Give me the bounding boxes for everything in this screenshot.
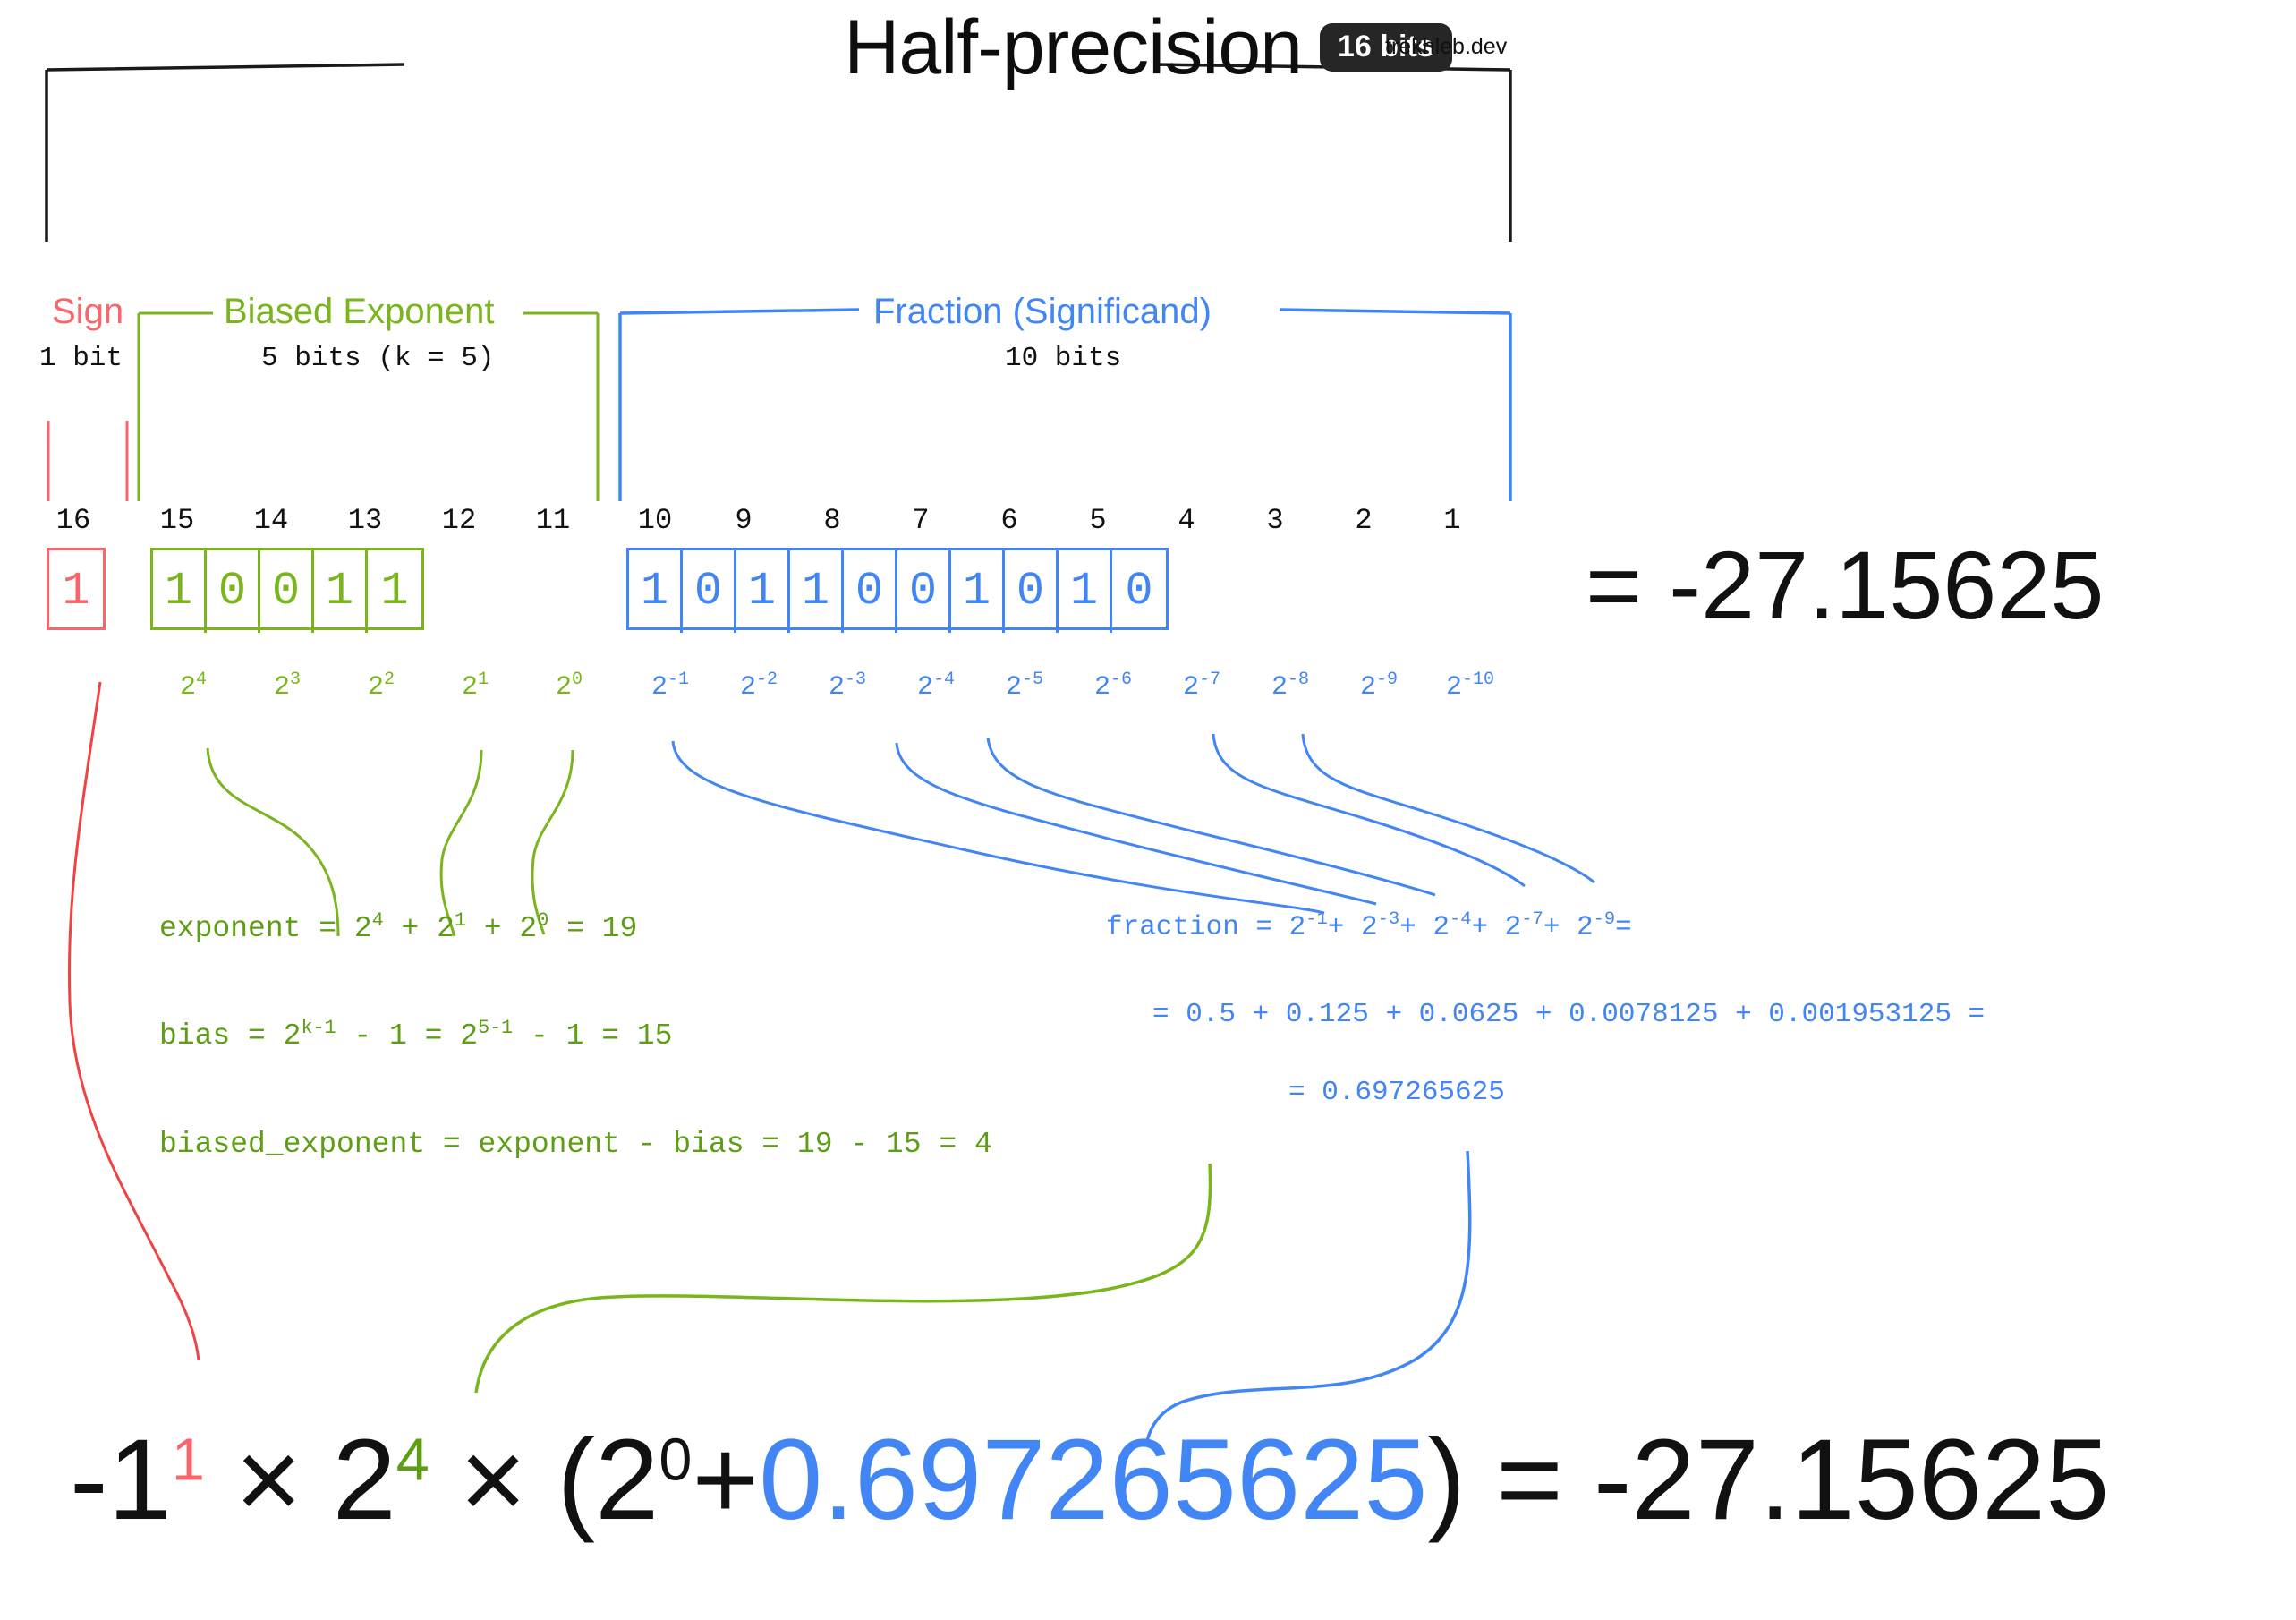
formula-base-two: 2 — [333, 1416, 396, 1544]
fraction-equation-line3: = 0.697265625 — [1288, 1079, 1505, 1106]
sign-group-label: Sign — [52, 294, 123, 329]
power-base: 2 — [368, 672, 384, 703]
bit-index: 6 — [982, 504, 1036, 537]
fraction-power-label: 2-1 — [639, 669, 702, 703]
power-exponent: -4 — [933, 669, 955, 690]
bit-index: 13 — [338, 504, 392, 537]
exponent-equation-sup2: 1 — [455, 909, 466, 932]
fraction-equation-sup5: -9 — [1594, 909, 1616, 930]
bit-index: 2 — [1337, 504, 1390, 537]
formula-plus: + — [692, 1416, 759, 1544]
exponent-connector-curves — [208, 748, 573, 936]
fraction-bit-cell[interactable]: 1 — [736, 550, 790, 633]
power-exponent: -10 — [1462, 669, 1494, 690]
bit-index: 3 — [1248, 504, 1302, 537]
exponent-bit-cell[interactable]: 1 — [153, 550, 207, 633]
power-base: 2 — [462, 672, 478, 703]
sign-bit-cell[interactable]: 1 — [49, 550, 103, 633]
final-formula: -11×24×(20+0.697265625)=-27.15625 — [70, 1423, 2109, 1538]
power-exponent: 3 — [290, 669, 301, 690]
bit-index: 12 — [432, 504, 486, 537]
fraction-bit-cell[interactable]: 0 — [1005, 550, 1059, 633]
fraction-equation-line1: fraction = 2-1+ 2-3+ 2-4+ 2-7+ 2-9= — [1106, 911, 1632, 941]
fraction-bit-cell[interactable]: 0 — [844, 550, 897, 633]
power-base: 2 — [740, 672, 756, 703]
power-exponent: -6 — [1110, 669, 1132, 690]
power-base: 2 — [829, 672, 845, 703]
power-exponent: -7 — [1199, 669, 1220, 690]
power-base: 2 — [274, 672, 290, 703]
top-span-bracket — [47, 64, 1510, 242]
power-exponent: 1 — [478, 669, 489, 690]
fraction-group-label: Fraction (Significand) — [873, 294, 1212, 329]
bit-index: 11 — [526, 504, 580, 537]
bit-index: 7 — [894, 504, 948, 537]
formula-biased-exponent: 4 — [396, 1427, 429, 1493]
watermark: trekhleb.dev — [1385, 34, 1507, 60]
exponent-power-label: 22 — [350, 669, 412, 703]
fraction-equation-sup3: -4 — [1450, 909, 1472, 930]
connector-lines-layer — [0, 0, 2296, 1620]
exponent-bracket — [139, 313, 598, 501]
sign-bit-group: 1 — [47, 548, 106, 630]
title-text: Half-precision — [844, 9, 1302, 86]
fraction-equation-mid1: + 2 — [1328, 911, 1378, 942]
exponent-bit-cell[interactable]: 0 — [207, 550, 260, 633]
power-base: 2 — [1006, 672, 1022, 703]
power-exponent: -9 — [1376, 669, 1398, 690]
bit-index: 9 — [717, 504, 770, 537]
power-base: 2 — [1360, 672, 1376, 703]
page-title: Half-precision 16 bits — [0, 9, 2296, 86]
formula-equals: = — [1496, 1416, 1563, 1544]
exponent-equation: exponent = 24 + 21 + 20 = 19 — [159, 911, 637, 943]
exponent-group-label: Biased Exponent — [224, 294, 494, 329]
fraction-bit-cell[interactable]: 0 — [1112, 550, 1166, 633]
power-exponent: -2 — [756, 669, 778, 690]
biased-exponent-connector-curve — [476, 1164, 1211, 1393]
formula-sign-exponent: 1 — [172, 1427, 205, 1493]
bit-index: 10 — [628, 504, 682, 537]
fraction-equation-prefix: fraction = 2 — [1106, 911, 1305, 942]
fraction-bit-cell[interactable]: 1 — [951, 550, 1005, 633]
fraction-equation-suffix: = — [1615, 911, 1632, 942]
power-base: 2 — [180, 672, 196, 703]
power-base: 2 — [1271, 672, 1288, 703]
exponent-bit-cell[interactable]: 1 — [314, 550, 368, 633]
formula-fraction-value: 0.697265625 — [759, 1416, 1427, 1544]
fraction-power-label: 2-7 — [1170, 669, 1233, 703]
exponent-power-label: 20 — [538, 669, 600, 703]
power-exponent: -5 — [1022, 669, 1043, 690]
formula-open-paren: (2 — [557, 1416, 659, 1544]
fraction-bit-cell[interactable]: 0 — [897, 550, 951, 633]
fraction-power-label: 2-6 — [1082, 669, 1144, 703]
exponent-bit-group: 1 0 0 1 1 — [150, 548, 424, 630]
exponent-bit-cell[interactable]: 1 — [368, 550, 421, 633]
fraction-power-label: 2-10 — [1439, 669, 1501, 703]
fraction-equation-sup4: -7 — [1521, 909, 1543, 930]
power-base: 2 — [1446, 672, 1462, 703]
fraction-power-label: 2-8 — [1259, 669, 1322, 703]
exponent-equation-suffix: = 19 — [548, 912, 637, 945]
fraction-equation-sup1: -1 — [1305, 909, 1328, 930]
power-exponent: 0 — [572, 669, 583, 690]
power-base: 2 — [651, 672, 668, 703]
exponent-equation-sup1: 4 — [372, 909, 384, 932]
exponent-equation-mid2: + 2 — [466, 912, 537, 945]
power-base: 2 — [1094, 672, 1110, 703]
fraction-equation-sup2: -3 — [1378, 909, 1400, 930]
exponent-equation-mid1: + 2 — [384, 912, 455, 945]
bias-equation: bias = 2k-1 - 1 = 25-1 - 1 = 15 — [159, 1019, 672, 1051]
formula-base-minus-one: -1 — [70, 1416, 172, 1544]
fraction-group-sublabel: 10 bits — [1005, 345, 1121, 372]
fraction-bit-cell[interactable]: 1 — [790, 550, 844, 633]
bit-index: 8 — [805, 504, 859, 537]
sign-group-sublabel: 1 bit — [39, 345, 123, 372]
bias-equation-suffix: - 1 = 15 — [513, 1019, 672, 1053]
fraction-power-label: 2-2 — [727, 669, 790, 703]
bias-equation-prefix: bias = 2 — [159, 1019, 301, 1053]
biased-exponent-equation: biased_exponent = exponent - bias = 19 -… — [159, 1130, 992, 1159]
bit-index: 5 — [1071, 504, 1125, 537]
formula-times-2: × — [460, 1416, 527, 1544]
power-exponent: 4 — [196, 669, 207, 690]
fraction-value-connector-curve — [1147, 1151, 1470, 1441]
exponent-power-label: 23 — [256, 669, 319, 703]
fraction-power-label: 2-9 — [1348, 669, 1410, 703]
fraction-bit-cell[interactable]: 1 — [629, 550, 683, 633]
bias-equation-sup2: 5-1 — [478, 1017, 513, 1039]
bias-equation-sup1: k-1 — [301, 1017, 336, 1039]
power-exponent: 2 — [384, 669, 395, 690]
bit-index: 4 — [1160, 504, 1213, 537]
fraction-bit-cell[interactable]: 1 — [1059, 550, 1112, 633]
fraction-equation-mid4: + 2 — [1543, 911, 1594, 942]
power-exponent: -3 — [845, 669, 866, 690]
power-base: 2 — [917, 672, 933, 703]
fraction-bit-cell[interactable]: 0 — [683, 550, 736, 633]
fraction-power-label: 2-4 — [905, 669, 967, 703]
bias-equation-mid1: - 1 = 2 — [336, 1019, 478, 1053]
fraction-equation-mid3: + 2 — [1471, 911, 1521, 942]
power-exponent: -8 — [1288, 669, 1309, 690]
fraction-bracket — [620, 310, 1510, 501]
exponent-power-label: 24 — [162, 669, 225, 703]
top-result-value: = -27.15625 — [1586, 537, 2105, 634]
exponent-bit-cell[interactable]: 0 — [260, 550, 314, 633]
exponent-group-sublabel: 5 bits (k = 5) — [261, 345, 494, 372]
fraction-equation-line2: = 0.5 + 0.125 + 0.0625 + 0.0078125 + 0.0… — [1152, 1001, 1985, 1028]
bit-index: 16 — [47, 504, 100, 537]
power-base: 2 — [1183, 672, 1199, 703]
fraction-power-label: 2-3 — [816, 669, 879, 703]
bit-index: 1 — [1425, 504, 1479, 537]
exponent-power-label: 21 — [444, 669, 506, 703]
fraction-equation-mid2: + 2 — [1399, 911, 1450, 942]
formula-implicit-exponent: 0 — [659, 1427, 692, 1493]
power-exponent: -1 — [668, 669, 689, 690]
sign-bracket — [48, 421, 127, 501]
formula-times-1: × — [235, 1416, 302, 1544]
bit-index: 15 — [150, 504, 204, 537]
exponent-equation-prefix: exponent = 2 — [159, 912, 372, 945]
fraction-power-label: 2-5 — [993, 669, 1056, 703]
power-base: 2 — [556, 672, 572, 703]
formula-close-paren: ) — [1428, 1416, 1467, 1544]
bit-index: 14 — [244, 504, 298, 537]
fraction-connector-curves — [673, 734, 1594, 913]
fraction-bit-group: 1 0 1 1 0 0 1 0 1 0 — [626, 548, 1169, 630]
exponent-equation-sup3: 0 — [537, 909, 548, 932]
formula-result: -27.15625 — [1594, 1416, 2110, 1544]
